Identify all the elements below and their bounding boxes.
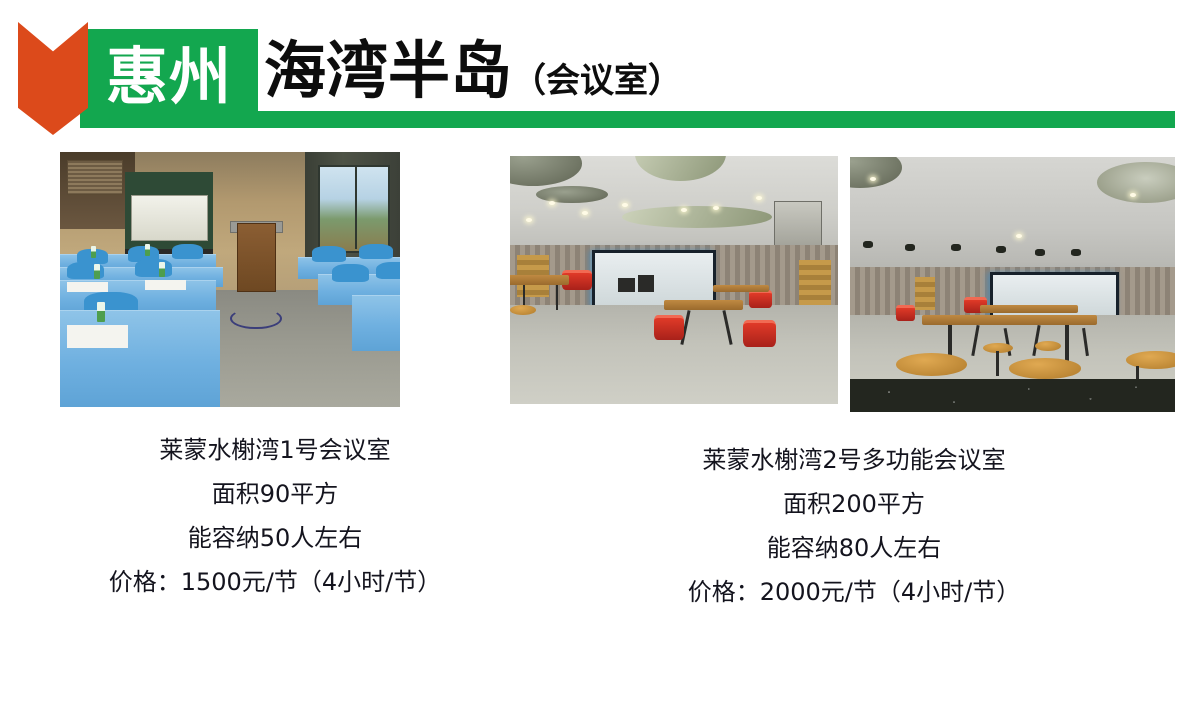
- location-green-block: 惠州: [80, 29, 258, 124]
- ceiling-oval: [536, 186, 608, 203]
- wood-table: [664, 300, 743, 310]
- wood-table: [980, 305, 1078, 313]
- chair: [376, 262, 400, 280]
- track-light: [951, 244, 961, 251]
- room-2-capacity: 能容纳80人左右: [620, 526, 1088, 570]
- room-1-name: 莱蒙水榭湾1号会议室: [60, 428, 490, 472]
- crate-stack: [915, 277, 935, 310]
- photo-meeting-room-1: [60, 152, 400, 407]
- projection-screen: [131, 195, 208, 240]
- room-2-price: 价格：2000元/节（4小时/节）: [620, 570, 1088, 614]
- track-light: [1035, 249, 1045, 256]
- chair: [172, 244, 203, 259]
- paper-sheet: [145, 280, 186, 290]
- room-1-price: 价格：1500元/节（4小时/节）: [60, 560, 490, 604]
- track-light: [905, 244, 915, 251]
- room-2-name: 莱蒙水榭湾2号多功能会议室: [620, 438, 1088, 482]
- photo-1-scene: [60, 152, 400, 407]
- water-bottle: [159, 262, 165, 277]
- location-label: 惠州: [80, 29, 258, 124]
- water-bottle: [94, 264, 100, 279]
- water-bottle: [97, 302, 105, 322]
- paper-sheet: [67, 325, 128, 348]
- track-light: [1071, 249, 1081, 256]
- stool: [1126, 351, 1175, 369]
- chair: [135, 259, 172, 277]
- wood-table: [510, 275, 569, 285]
- stool: [1009, 358, 1081, 378]
- water-bottle: [145, 244, 150, 256]
- glass-door: [318, 165, 390, 253]
- track-light: [863, 241, 873, 248]
- stool-frame: [618, 278, 634, 293]
- stool-frame: [638, 275, 654, 292]
- door-mullion: [355, 165, 357, 249]
- room-1-capacity: 能容纳50人左右: [60, 516, 490, 560]
- barrel-stool: [749, 290, 772, 308]
- downlight: [713, 206, 719, 210]
- ceiling-vent: [67, 160, 123, 195]
- crate-stack: [799, 260, 832, 307]
- wood-table: [922, 315, 1098, 325]
- page-title: 海湾半岛（会议室）: [264, 30, 682, 112]
- ceiling-wave: [622, 206, 773, 228]
- downlight: [1016, 234, 1022, 238]
- barrel-stool: [654, 315, 684, 340]
- barrel-stool: [896, 305, 916, 321]
- page-title-text: 海湾半岛: [264, 34, 512, 107]
- caption-room-2: 莱蒙水榭湾2号多功能会议室 面积200平方 能容纳80人左右 价格：2000元/…: [620, 438, 1088, 614]
- paper-sheet: [67, 282, 108, 292]
- page-title-suffix: （会议室）: [512, 61, 682, 101]
- track-light: [996, 246, 1006, 253]
- photo-2-scene: [510, 156, 838, 404]
- downlight: [681, 208, 687, 212]
- page-header: 基 地 惠州 海湾半岛（会议室）: [0, 0, 1200, 140]
- caption-room-1: 莱蒙水榭湾1号会议室 面积90平方 能容纳50人左右 价格：1500元/节（4小…: [60, 428, 490, 604]
- foreground-counter: [850, 379, 1175, 412]
- stool-leg: [996, 351, 999, 377]
- wood-table: [713, 285, 769, 292]
- table: [352, 295, 400, 351]
- chair: [312, 246, 346, 261]
- floor-cable: [230, 308, 282, 330]
- downlight: [622, 203, 628, 207]
- table-leg: [556, 285, 558, 310]
- room-2-area: 面积200平方: [620, 482, 1088, 526]
- chair: [332, 264, 369, 282]
- water-bottle: [91, 246, 96, 258]
- chair: [359, 244, 393, 259]
- table-leg: [1065, 325, 1069, 361]
- photo-meeting-room-3: [850, 157, 1175, 412]
- downlight: [582, 211, 588, 215]
- stool: [510, 305, 536, 315]
- downlight: [1130, 193, 1136, 197]
- room-1-area: 面积90平方: [60, 472, 490, 516]
- stool: [1035, 341, 1061, 351]
- photo-3-scene: [850, 157, 1175, 412]
- downlight: [549, 201, 555, 205]
- photo-meeting-room-2: [510, 156, 838, 404]
- barrel-stool: [743, 320, 776, 348]
- downlight: [756, 196, 762, 200]
- equipment-cart: [237, 223, 276, 291]
